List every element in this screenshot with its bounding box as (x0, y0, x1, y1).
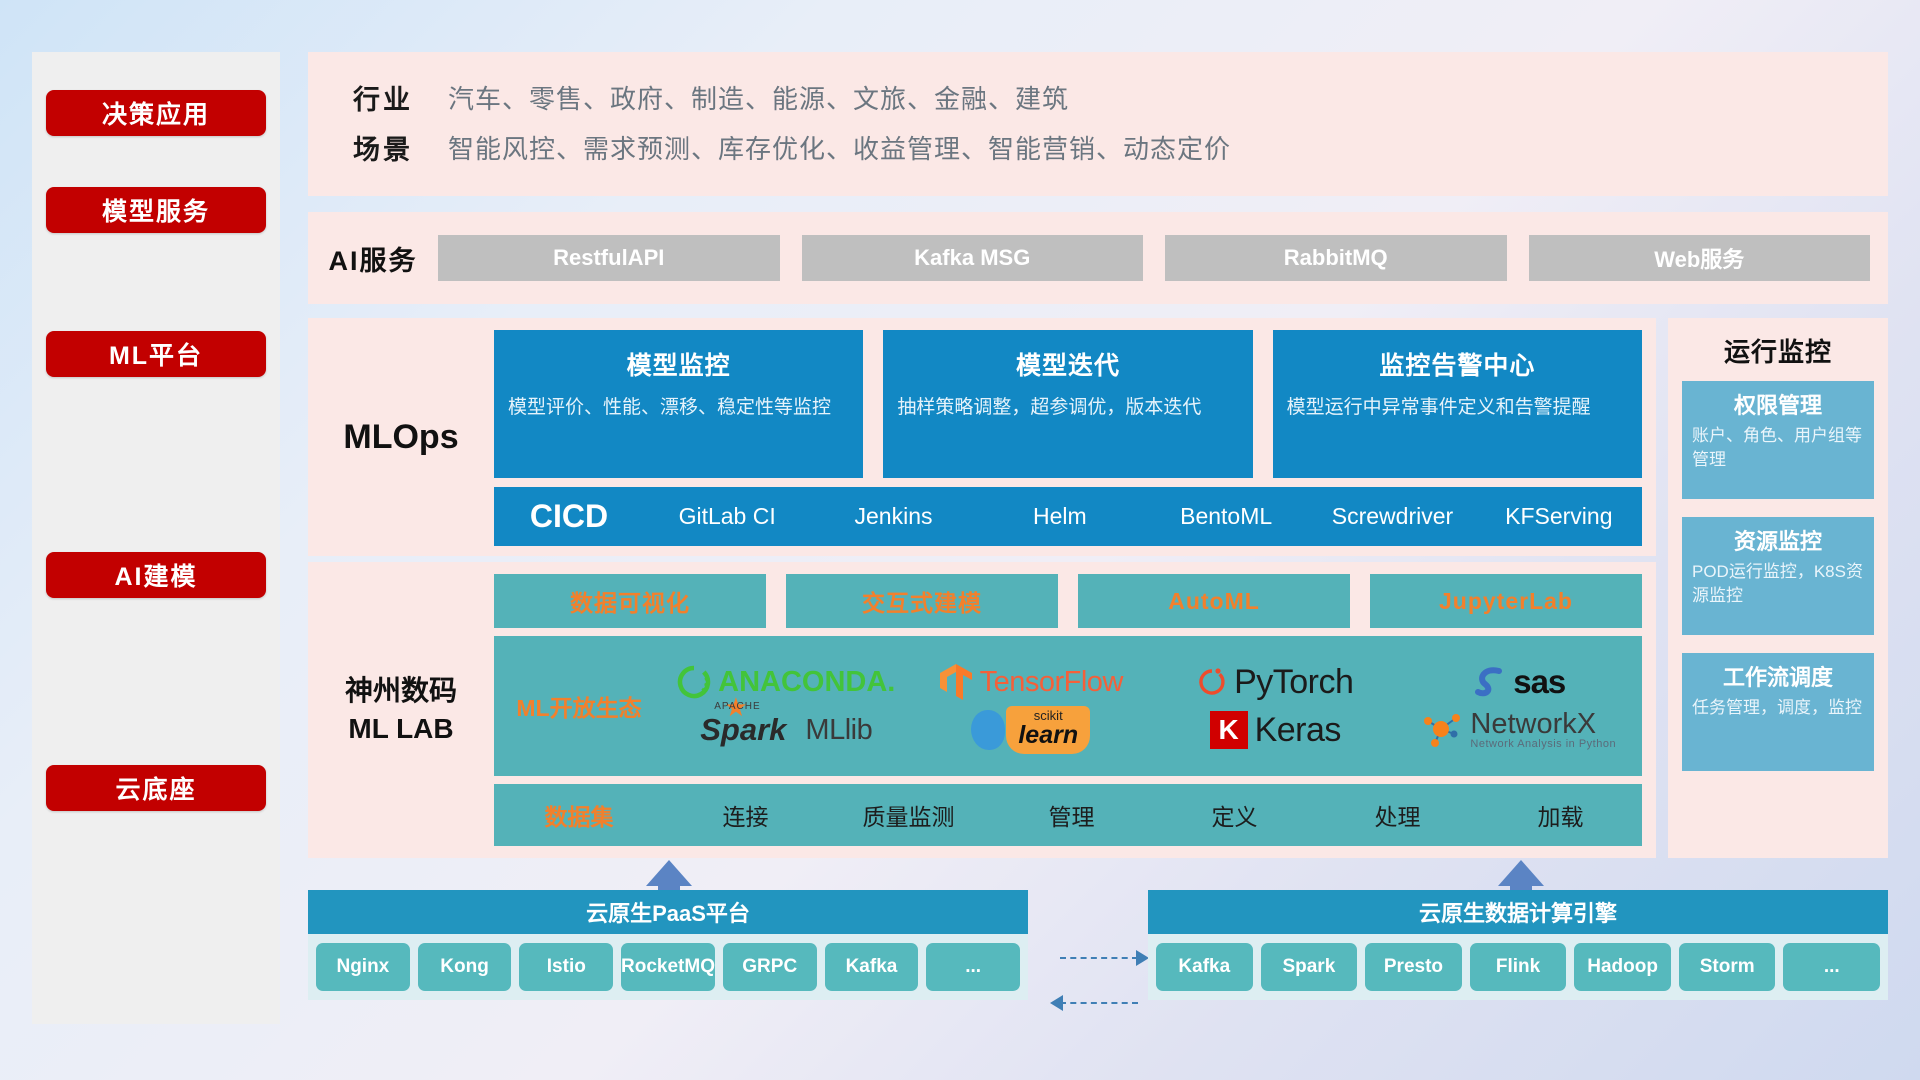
tensorflow-logo: TensorFlow (939, 663, 1123, 701)
tensorflow-wordmark: TensorFlow (980, 666, 1123, 699)
dataset-item-process[interactable]: 处理 (1316, 798, 1479, 832)
ml-lab-label: 神州数码 ML LAB (308, 562, 494, 858)
rail-chip-model-service[interactable]: 模型服务 (46, 187, 266, 233)
spark-mark: ★ APACHE Spark (700, 712, 786, 748)
card-title: 权限管理 (1692, 388, 1864, 420)
cicd-item-gitlab-ci[interactable]: GitLab CI (644, 487, 810, 546)
sas-wordmark: sas (1513, 663, 1565, 701)
lab-tab-data-visualization[interactable]: 数据可视化 (494, 574, 766, 628)
cicd-label: CICD (494, 498, 644, 535)
ml-lab-label-line2: ML LAB (348, 710, 453, 748)
paas-chip-nginx[interactable]: Nginx (316, 943, 410, 991)
card-desc: POD运行监控，K8S资源监控 (1692, 560, 1864, 608)
cicd-item-bentoml[interactable]: BentoML (1143, 487, 1309, 546)
paas-left-title: 云原生PaaS平台 (308, 890, 1028, 934)
dashed-line-right (1060, 957, 1138, 959)
ml-ecosystem-row: ML开放生态 ANACONDA. (494, 636, 1642, 776)
card-title: 模型监控 (508, 346, 849, 382)
card-desc: 模型运行中异常事件定义和告警提醒 (1287, 394, 1628, 421)
card-desc: 账户、角色、用户组等管理 (1692, 424, 1864, 472)
networkx-wordmark: NetworkX (1470, 710, 1616, 739)
dataset-item-quality[interactable]: 质量监测 (827, 798, 990, 832)
dataset-row: 数据集 连接 质量监测 管理 定义 处理 加载 (494, 784, 1642, 846)
cicd-item-kfserving[interactable]: KFServing (1476, 487, 1642, 546)
networkx-logo: NetworkX Network Analysis in Python (1423, 710, 1616, 750)
learn-wordmark: learn (1018, 722, 1078, 748)
industry-values: 汽车、零售、政府、制造、能源、文旅、金融、建筑 (448, 79, 1069, 116)
dataset-item-define[interactable]: 定义 (1153, 798, 1316, 832)
scene-label: 场景 (318, 128, 448, 167)
paas-chip-kong[interactable]: Kong (418, 943, 512, 991)
ml-ecosystem-label: ML开放生态 (494, 689, 664, 723)
engine-chip-spark[interactable]: Spark (1261, 943, 1358, 991)
rail-chip-ml-platform[interactable]: ML平台 (46, 331, 266, 377)
dataset-item-load[interactable]: 加载 (1479, 798, 1642, 832)
mlops-label: MLOps (308, 318, 494, 556)
service-chip-kafka-msg[interactable]: Kafka MSG (802, 235, 1144, 281)
mlops-card-model-monitor[interactable]: 模型监控 模型评价、性能、漂移、稳定性等监控 (494, 330, 863, 478)
dashed-line-left (1060, 1002, 1138, 1004)
engine-chip-kafka[interactable]: Kafka (1156, 943, 1253, 991)
layer-rail: 决策应用 模型服务 ML平台 AI建模 云底座 (32, 52, 280, 1024)
lab-tab-interactive-modeling[interactable]: 交互式建模 (786, 574, 1058, 628)
service-chip-rabbitmq[interactable]: RabbitMQ (1165, 235, 1507, 281)
paas-chip-kafka[interactable]: Kafka (825, 943, 919, 991)
spark-mllib-logo: ★ APACHE Spark MLlib (700, 712, 872, 748)
dataset-item-connect[interactable]: 连接 (664, 798, 827, 832)
card-title: 模型迭代 (897, 346, 1238, 382)
keras-wordmark: Keras (1255, 711, 1341, 750)
dataset-label: 数据集 (494, 798, 664, 832)
ml-lab-band: 神州数码 ML LAB 数据可视化 交互式建模 AutoML JupyterLa… (308, 562, 1656, 858)
service-chip-restfulapi[interactable]: RestfulAPI (438, 235, 780, 281)
architecture-diagram: 决策应用 模型服务 ML平台 AI建模 云底座 行业 汽车、零售、政府、制造、能… (0, 0, 1920, 1080)
data-compute-engine-right: 云原生数据计算引擎 Kafka Spark Presto Flink Hadoo… (1148, 890, 1888, 1000)
application-band: 行业 汽车、零售、政府、制造、能源、文旅、金融、建筑 场景 智能风控、需求预测、… (308, 52, 1888, 196)
spark-apache-text: APACHE (714, 701, 760, 712)
ai-service-band: AI服务 RestfulAPI Kafka MSG RabbitMQ Web服务 (308, 212, 1888, 304)
cicd-item-helm[interactable]: Helm (977, 487, 1143, 546)
card-title: 资源监控 (1692, 524, 1864, 556)
anaconda-icon (677, 665, 711, 699)
paas-chip-grpc[interactable]: GRPC (723, 943, 817, 991)
cicd-item-screwdriver[interactable]: Screwdriver (1309, 487, 1475, 546)
mllib-wordmark: MLlib (805, 714, 872, 747)
monitor-card-resource[interactable]: 资源监控 POD运行监控，K8S资源监控 (1682, 517, 1874, 635)
monitoring-title: 运行监控 (1668, 318, 1888, 381)
tensorflow-icon (939, 663, 973, 701)
scene-row: 场景 智能风控、需求预测、库存优化、收益管理、智能营销、动态定价 (318, 122, 1888, 172)
monitor-card-workflow[interactable]: 工作流调度 任务管理，调度，监控 (1682, 653, 1874, 771)
card-desc: 抽样策略调整，超参调优，版本迭代 (897, 394, 1238, 421)
keras-logo: K Keras (1210, 711, 1341, 750)
engine-chip-flink[interactable]: Flink (1470, 943, 1567, 991)
lab-tab-jupyterlab[interactable]: JupyterLab (1370, 574, 1642, 628)
card-desc: 任务管理，调度，监控 (1692, 696, 1864, 720)
engine-chip-more[interactable]: ... (1783, 943, 1880, 991)
mlops-card-alert-center[interactable]: 监控告警中心 模型运行中异常事件定义和告警提醒 (1273, 330, 1642, 478)
card-title: 工作流调度 (1692, 660, 1864, 692)
sas-logo: sas (1474, 663, 1565, 701)
dataset-item-manage[interactable]: 管理 (990, 798, 1153, 832)
sas-icon (1474, 665, 1506, 699)
dashed-arrow-left-icon (1050, 995, 1063, 1011)
service-chip-web[interactable]: Web服务 (1529, 235, 1871, 281)
scikit-orange-blob-icon: scikit learn (1006, 706, 1090, 754)
scene-values: 智能风控、需求预测、库存优化、收益管理、智能营销、动态定价 (448, 129, 1231, 166)
ai-service-label: AI服务 (308, 239, 438, 278)
paas-right-title: 云原生数据计算引擎 (1148, 890, 1888, 934)
lab-tab-automl[interactable]: AutoML (1078, 574, 1350, 628)
card-title: 监控告警中心 (1287, 346, 1628, 382)
scikit-learn-logo: scikit learn (971, 706, 1090, 754)
pytorch-wordmark: PyTorch (1234, 663, 1353, 702)
anaconda-logo: ANACONDA. (677, 665, 895, 699)
rail-chip-decision[interactable]: 决策应用 (46, 90, 266, 136)
scikit-blue-blob-icon (971, 710, 1005, 750)
rail-chip-cloud-base[interactable]: 云底座 (46, 765, 266, 811)
networkx-icon (1423, 711, 1463, 749)
paas-chip-rocketmq[interactable]: RocketMQ (621, 943, 715, 991)
mlops-band: MLOps 模型监控 模型评价、性能、漂移、稳定性等监控 模型迭代 抽样策略调整… (308, 318, 1656, 556)
paas-platform-left: 云原生PaaS平台 Nginx Kong Istio RocketMQ GRPC… (308, 890, 1028, 1000)
paas-chip-more[interactable]: ... (926, 943, 1020, 991)
engine-chip-presto[interactable]: Presto (1365, 943, 1462, 991)
industry-label: 行业 (318, 78, 448, 117)
networkx-tagline: Network Analysis in Python (1470, 739, 1616, 750)
card-desc: 模型评价、性能、漂移、稳定性等监控 (508, 394, 849, 421)
monitor-card-permission[interactable]: 权限管理 账户、角色、用户组等管理 (1682, 381, 1874, 499)
networkx-wordmark-group: NetworkX Network Analysis in Python (1470, 710, 1616, 750)
industry-row: 行业 汽车、零售、政府、制造、能源、文旅、金融、建筑 (318, 72, 1888, 122)
paas-chip-istio[interactable]: Istio (519, 943, 613, 991)
rail-chip-ai-modeling[interactable]: AI建模 (46, 552, 266, 598)
engine-chip-hadoop[interactable]: Hadoop (1574, 943, 1671, 991)
ml-lab-label-line1: 神州数码 (345, 672, 457, 710)
pytorch-icon (1197, 664, 1227, 700)
engine-chip-storm[interactable]: Storm (1679, 943, 1776, 991)
mlops-card-model-iteration[interactable]: 模型迭代 抽样策略调整，超参调优，版本迭代 (883, 330, 1252, 478)
keras-mark-icon: K (1210, 711, 1248, 749)
cicd-row: CICD GitLab CI Jenkins Helm BentoML Scre… (494, 487, 1642, 546)
cicd-item-jenkins[interactable]: Jenkins (810, 487, 976, 546)
pytorch-logo: PyTorch (1197, 663, 1353, 702)
monitoring-band: 运行监控 权限管理 账户、角色、用户组等管理 资源监控 POD运行监控，K8S资… (1668, 318, 1888, 858)
